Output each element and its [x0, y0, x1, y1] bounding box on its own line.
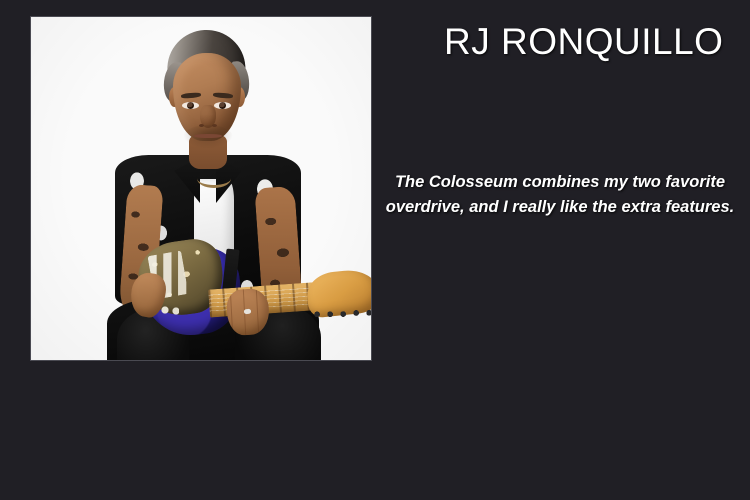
eye-right	[214, 102, 231, 109]
artist-portrait-image	[31, 17, 371, 360]
mouth	[194, 134, 222, 138]
necklace	[197, 169, 231, 188]
artist-name: RJ RONQUILLO	[444, 22, 723, 63]
testimonial-slide: RJ RONQUILLO The Colosseum combines my t…	[0, 0, 750, 500]
quote-line-1: The Colosseum combines my two favorite	[378, 170, 742, 195]
quote-line-2: overdrive, and I really like the extra f…	[378, 195, 742, 220]
artist-photo-panel	[31, 17, 371, 360]
testimonial-quote: The Colosseum combines my two favorite o…	[378, 170, 742, 220]
eye-left	[182, 102, 199, 109]
